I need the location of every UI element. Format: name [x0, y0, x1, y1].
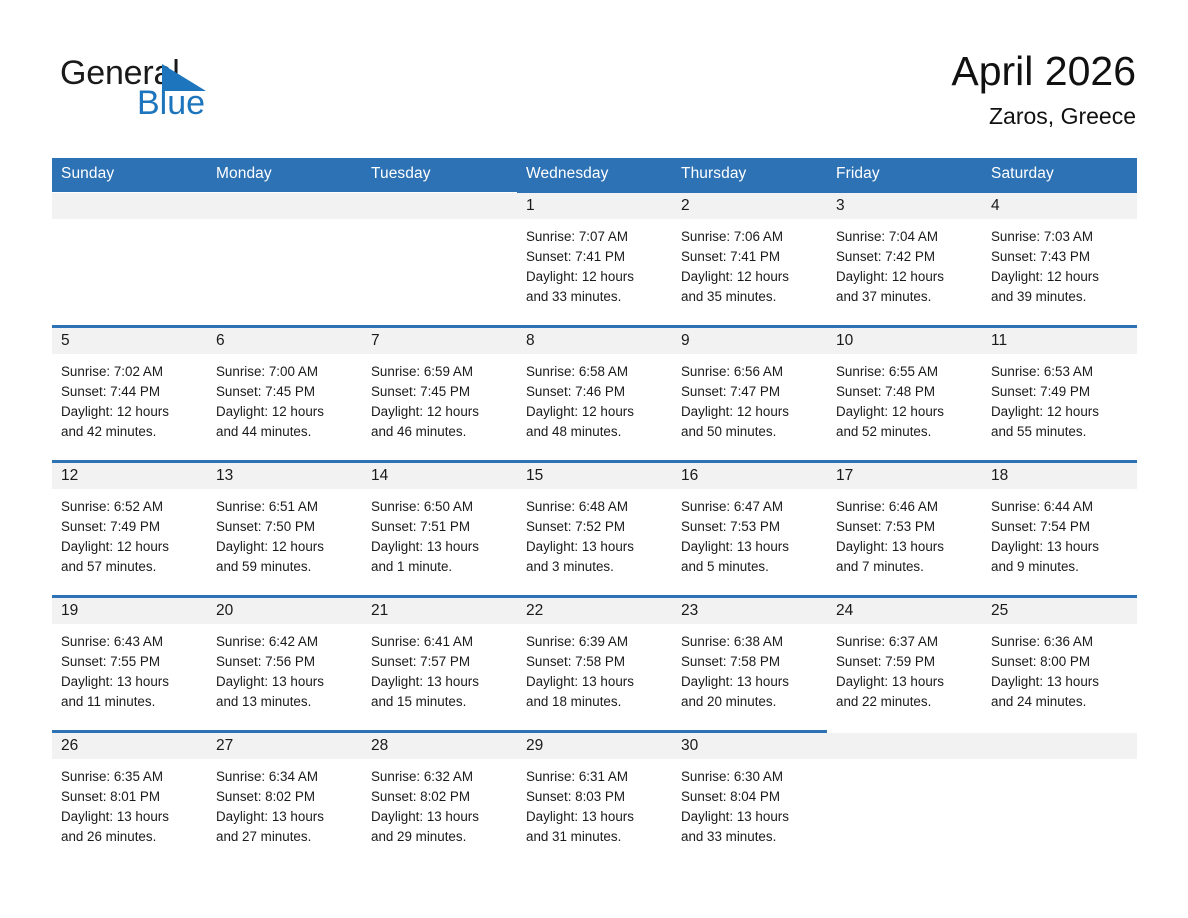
calendar-table: Sunday Monday Tuesday Wednesday Thursday…	[52, 158, 1137, 865]
calendar-day-cell[interactable]: 21Sunrise: 6:41 AMSunset: 7:57 PMDayligh…	[362, 597, 517, 732]
sunset-text: Sunset: 7:46 PM	[526, 382, 663, 402]
day-number-bar: 2	[672, 193, 827, 219]
sunset-text: Sunset: 8:03 PM	[526, 787, 663, 807]
daylight-text-line2: and 20 minutes.	[681, 692, 818, 712]
daylight-text-line1: Daylight: 13 hours	[371, 807, 508, 827]
daylight-text-line2: and 35 minutes.	[681, 287, 818, 307]
weekday-header-row: Sunday Monday Tuesday Wednesday Thursday…	[52, 158, 1137, 192]
daylight-text-line2: and 7 minutes.	[836, 557, 973, 577]
sunset-text: Sunset: 7:51 PM	[371, 517, 508, 537]
day-number-bar: 1	[517, 193, 672, 219]
daylight-text-line2: and 33 minutes.	[681, 827, 818, 847]
day-details: Sunrise: 6:43 AMSunset: 7:55 PMDaylight:…	[52, 624, 207, 712]
sunrise-text: Sunrise: 6:41 AM	[371, 632, 508, 652]
daylight-text-line1: Daylight: 13 hours	[216, 672, 353, 692]
day-number-bar: 8	[517, 328, 672, 354]
daylight-text-line2: and 42 minutes.	[61, 422, 198, 442]
sunrise-text: Sunrise: 6:32 AM	[371, 767, 508, 787]
day-details: Sunrise: 6:35 AMSunset: 8:01 PMDaylight:…	[52, 759, 207, 847]
sunrise-text: Sunrise: 6:39 AM	[526, 632, 663, 652]
daylight-text-line1: Daylight: 13 hours	[61, 672, 198, 692]
day-number-bar: 18	[982, 463, 1137, 489]
daylight-text-line1: Daylight: 13 hours	[681, 807, 818, 827]
calendar-week-row: 12Sunrise: 6:52 AMSunset: 7:49 PMDayligh…	[52, 462, 1137, 597]
day-number: 1	[526, 197, 535, 214]
sunset-text: Sunset: 7:57 PM	[371, 652, 508, 672]
daylight-text-line2: and 24 minutes.	[991, 692, 1128, 712]
day-details: Sunrise: 6:47 AMSunset: 7:53 PMDaylight:…	[672, 489, 827, 577]
sunset-text: Sunset: 7:43 PM	[991, 247, 1128, 267]
day-number: 11	[991, 332, 1007, 349]
sunrise-text: Sunrise: 6:42 AM	[216, 632, 353, 652]
day-number: 14	[371, 467, 388, 484]
calendar-day-cell-empty	[207, 192, 362, 327]
weekday-header-monday: Monday	[207, 158, 362, 192]
sunrise-text: Sunrise: 7:00 AM	[216, 362, 353, 382]
day-number: 2	[681, 197, 690, 214]
day-details: Sunrise: 6:38 AMSunset: 7:58 PMDaylight:…	[672, 624, 827, 712]
calendar-day-cell[interactable]: 9Sunrise: 6:56 AMSunset: 7:47 PMDaylight…	[672, 327, 827, 462]
title-block: April 2026 Zaros, Greece	[951, 44, 1136, 132]
sunset-text: Sunset: 7:54 PM	[991, 517, 1128, 537]
daylight-text-line1: Daylight: 13 hours	[216, 807, 353, 827]
sunrise-text: Sunrise: 6:37 AM	[836, 632, 973, 652]
sunrise-text: Sunrise: 7:02 AM	[61, 362, 198, 382]
calendar-day-cell[interactable]: 6Sunrise: 7:00 AMSunset: 7:45 PMDaylight…	[207, 327, 362, 462]
day-details: Sunrise: 6:39 AMSunset: 7:58 PMDaylight:…	[517, 624, 672, 712]
sunset-text: Sunset: 7:56 PM	[216, 652, 353, 672]
daylight-text-line1: Daylight: 13 hours	[991, 537, 1128, 557]
day-number-bar: 12	[52, 463, 207, 489]
calendar-day-cell[interactable]: 28Sunrise: 6:32 AMSunset: 8:02 PMDayligh…	[362, 732, 517, 866]
day-number-bar	[827, 733, 982, 759]
calendar-day-cell[interactable]: 19Sunrise: 6:43 AMSunset: 7:55 PMDayligh…	[52, 597, 207, 732]
day-number-bar: 26	[52, 733, 207, 759]
day-number-bar	[982, 733, 1137, 759]
daylight-text-line2: and 3 minutes.	[526, 557, 663, 577]
calendar-day-cell[interactable]: 29Sunrise: 6:31 AMSunset: 8:03 PMDayligh…	[517, 732, 672, 866]
day-details: Sunrise: 6:55 AMSunset: 7:48 PMDaylight:…	[827, 354, 982, 442]
day-number-bar: 10	[827, 328, 982, 354]
day-number: 13	[216, 467, 233, 484]
daylight-text-line2: and 15 minutes.	[371, 692, 508, 712]
sunset-text: Sunset: 7:58 PM	[526, 652, 663, 672]
day-details: Sunrise: 6:59 AMSunset: 7:45 PMDaylight:…	[362, 354, 517, 442]
sunset-text: Sunset: 8:02 PM	[371, 787, 508, 807]
daylight-text-line1: Daylight: 13 hours	[526, 807, 663, 827]
weekday-header-wednesday: Wednesday	[517, 158, 672, 192]
daylight-text-line1: Daylight: 13 hours	[991, 672, 1128, 692]
daylight-text-line1: Daylight: 12 hours	[836, 267, 973, 287]
daylight-text-line2: and 46 minutes.	[371, 422, 508, 442]
calendar-day-cell[interactable]: 22Sunrise: 6:39 AMSunset: 7:58 PMDayligh…	[517, 597, 672, 732]
sunset-text: Sunset: 8:01 PM	[61, 787, 198, 807]
calendar-day-cell[interactable]: 16Sunrise: 6:47 AMSunset: 7:53 PMDayligh…	[672, 462, 827, 597]
day-number: 4	[991, 197, 1000, 214]
calendar-day-cell[interactable]: 7Sunrise: 6:59 AMSunset: 7:45 PMDaylight…	[362, 327, 517, 462]
day-number-bar	[362, 193, 517, 219]
sunset-text: Sunset: 7:59 PM	[836, 652, 973, 672]
day-number: 23	[681, 602, 698, 619]
day-details: Sunrise: 6:53 AMSunset: 7:49 PMDaylight:…	[982, 354, 1137, 442]
day-details: Sunrise: 7:04 AMSunset: 7:42 PMDaylight:…	[827, 219, 982, 307]
daylight-text-line2: and 52 minutes.	[836, 422, 973, 442]
sunset-text: Sunset: 7:48 PM	[836, 382, 973, 402]
sunset-text: Sunset: 7:55 PM	[61, 652, 198, 672]
sunrise-text: Sunrise: 7:07 AM	[526, 227, 663, 247]
daylight-text-line2: and 31 minutes.	[526, 827, 663, 847]
day-number-bar: 15	[517, 463, 672, 489]
sunset-text: Sunset: 7:42 PM	[836, 247, 973, 267]
day-number-bar: 7	[362, 328, 517, 354]
calendar-day-cell[interactable]: 30Sunrise: 6:30 AMSunset: 8:04 PMDayligh…	[672, 732, 827, 866]
day-number-bar: 29	[517, 733, 672, 759]
calendar-day-cell[interactable]: 18Sunrise: 6:44 AMSunset: 7:54 PMDayligh…	[982, 462, 1137, 597]
day-number: 26	[61, 737, 78, 754]
calendar-day-cell-empty	[982, 732, 1137, 866]
calendar-day-cell[interactable]: 3Sunrise: 7:04 AMSunset: 7:42 PMDaylight…	[827, 192, 982, 327]
day-number-bar: 13	[207, 463, 362, 489]
sunset-text: Sunset: 7:45 PM	[216, 382, 353, 402]
day-number-bar: 24	[827, 598, 982, 624]
day-details: Sunrise: 6:30 AMSunset: 8:04 PMDaylight:…	[672, 759, 827, 847]
sunrise-text: Sunrise: 6:34 AM	[216, 767, 353, 787]
day-number-bar: 9	[672, 328, 827, 354]
day-details: Sunrise: 6:48 AMSunset: 7:52 PMDaylight:…	[517, 489, 672, 577]
logo-text-blue: Blue	[137, 84, 205, 122]
calendar-day-cell[interactable]: 23Sunrise: 6:38 AMSunset: 7:58 PMDayligh…	[672, 597, 827, 732]
sunrise-text: Sunrise: 6:46 AM	[836, 497, 973, 517]
daylight-text-line2: and 26 minutes.	[61, 827, 198, 847]
daylight-text-line1: Daylight: 12 hours	[61, 402, 198, 422]
day-number: 28	[371, 737, 388, 754]
sunset-text: Sunset: 7:50 PM	[216, 517, 353, 537]
day-details: Sunrise: 7:06 AMSunset: 7:41 PMDaylight:…	[672, 219, 827, 307]
calendar-day-cell[interactable]: 5Sunrise: 7:02 AMSunset: 7:44 PMDaylight…	[52, 327, 207, 462]
day-details: Sunrise: 6:34 AMSunset: 8:02 PMDaylight:…	[207, 759, 362, 847]
day-number-bar: 3	[827, 193, 982, 219]
sunset-text: Sunset: 7:41 PM	[681, 247, 818, 267]
day-details: Sunrise: 7:02 AMSunset: 7:44 PMDaylight:…	[52, 354, 207, 442]
page-header: General Blue April 2026 Zaros, Greece	[52, 44, 1136, 148]
daylight-text-line1: Daylight: 13 hours	[681, 672, 818, 692]
day-number: 12	[61, 467, 78, 484]
calendar-day-cell[interactable]: 12Sunrise: 6:52 AMSunset: 7:49 PMDayligh…	[52, 462, 207, 597]
day-number-bar: 21	[362, 598, 517, 624]
sunrise-text: Sunrise: 6:56 AM	[681, 362, 818, 382]
daylight-text-line2: and 33 minutes.	[526, 287, 663, 307]
sunrise-text: Sunrise: 6:30 AM	[681, 767, 818, 787]
day-number: 10	[836, 332, 853, 349]
daylight-text-line2: and 48 minutes.	[526, 422, 663, 442]
daylight-text-line1: Daylight: 12 hours	[836, 402, 973, 422]
daylight-text-line2: and 50 minutes.	[681, 422, 818, 442]
sunrise-text: Sunrise: 6:47 AM	[681, 497, 818, 517]
day-details: Sunrise: 7:07 AMSunset: 7:41 PMDaylight:…	[517, 219, 672, 307]
daylight-text-line2: and 55 minutes.	[991, 422, 1128, 442]
daylight-text-line1: Daylight: 13 hours	[836, 672, 973, 692]
calendar-week-row: 1Sunrise: 7:07 AMSunset: 7:41 PMDaylight…	[52, 192, 1137, 327]
day-number: 29	[526, 737, 543, 754]
day-number-bar: 19	[52, 598, 207, 624]
sunrise-text: Sunrise: 6:52 AM	[61, 497, 198, 517]
day-number: 21	[371, 602, 388, 619]
day-details: Sunrise: 6:50 AMSunset: 7:51 PMDaylight:…	[362, 489, 517, 577]
day-details: Sunrise: 7:03 AMSunset: 7:43 PMDaylight:…	[982, 219, 1137, 307]
day-number: 3	[836, 197, 845, 214]
daylight-text-line1: Daylight: 13 hours	[681, 537, 818, 557]
day-number-bar: 17	[827, 463, 982, 489]
sunrise-text: Sunrise: 6:53 AM	[991, 362, 1128, 382]
day-number: 30	[681, 737, 698, 754]
day-details: Sunrise: 6:32 AMSunset: 8:02 PMDaylight:…	[362, 759, 517, 847]
daylight-text-line1: Daylight: 12 hours	[371, 402, 508, 422]
day-number-bar	[207, 193, 362, 219]
daylight-text-line1: Daylight: 13 hours	[61, 807, 198, 827]
day-number: 18	[991, 467, 1008, 484]
page-title: April 2026	[951, 44, 1136, 98]
day-number-bar: 20	[207, 598, 362, 624]
sunrise-text: Sunrise: 6:51 AM	[216, 497, 353, 517]
sunset-text: Sunset: 7:47 PM	[681, 382, 818, 402]
daylight-text-line2: and 59 minutes.	[216, 557, 353, 577]
calendar-day-cell[interactable]: 25Sunrise: 6:36 AMSunset: 8:00 PMDayligh…	[982, 597, 1137, 732]
weekday-header-tuesday: Tuesday	[362, 158, 517, 192]
calendar-day-cell[interactable]: 10Sunrise: 6:55 AMSunset: 7:48 PMDayligh…	[827, 327, 982, 462]
day-details: Sunrise: 6:31 AMSunset: 8:03 PMDaylight:…	[517, 759, 672, 847]
calendar-week-row: 5Sunrise: 7:02 AMSunset: 7:44 PMDaylight…	[52, 327, 1137, 462]
day-details: Sunrise: 6:42 AMSunset: 7:56 PMDaylight:…	[207, 624, 362, 712]
calendar-week-row: 19Sunrise: 6:43 AMSunset: 7:55 PMDayligh…	[52, 597, 1137, 732]
calendar-day-cell[interactable]: 2Sunrise: 7:06 AMSunset: 7:41 PMDaylight…	[672, 192, 827, 327]
sunrise-text: Sunrise: 6:31 AM	[526, 767, 663, 787]
sunrise-text: Sunrise: 6:36 AM	[991, 632, 1128, 652]
day-number: 27	[216, 737, 233, 754]
day-number-bar: 4	[982, 193, 1137, 219]
daylight-text-line2: and 13 minutes.	[216, 692, 353, 712]
calendar-day-cell[interactable]: 26Sunrise: 6:35 AMSunset: 8:01 PMDayligh…	[52, 732, 207, 866]
weekday-header-thursday: Thursday	[672, 158, 827, 192]
day-number-bar: 27	[207, 733, 362, 759]
sunset-text: Sunset: 7:44 PM	[61, 382, 198, 402]
daylight-text-line1: Daylight: 12 hours	[991, 267, 1128, 287]
sunrise-text: Sunrise: 6:59 AM	[371, 362, 508, 382]
day-number-bar: 5	[52, 328, 207, 354]
daylight-text-line2: and 57 minutes.	[61, 557, 198, 577]
day-details: Sunrise: 6:51 AMSunset: 7:50 PMDaylight:…	[207, 489, 362, 577]
day-details: Sunrise: 6:58 AMSunset: 7:46 PMDaylight:…	[517, 354, 672, 442]
weekday-header-saturday: Saturday	[982, 158, 1137, 192]
day-details: Sunrise: 6:46 AMSunset: 7:53 PMDaylight:…	[827, 489, 982, 577]
daylight-text-line2: and 1 minute.	[371, 557, 508, 577]
daylight-text-line1: Daylight: 12 hours	[216, 537, 353, 557]
calendar-day-cell-empty	[827, 732, 982, 866]
daylight-text-line2: and 39 minutes.	[991, 287, 1128, 307]
sunrise-text: Sunrise: 6:50 AM	[371, 497, 508, 517]
sunset-text: Sunset: 7:52 PM	[526, 517, 663, 537]
daylight-text-line1: Daylight: 12 hours	[681, 267, 818, 287]
sunset-text: Sunset: 7:45 PM	[371, 382, 508, 402]
day-details: Sunrise: 6:56 AMSunset: 7:47 PMDaylight:…	[672, 354, 827, 442]
sunset-text: Sunset: 7:41 PM	[526, 247, 663, 267]
day-number-bar: 23	[672, 598, 827, 624]
daylight-text-line1: Daylight: 13 hours	[371, 537, 508, 557]
calendar-day-cell[interactable]: 1Sunrise: 7:07 AMSunset: 7:41 PMDaylight…	[517, 192, 672, 327]
calendar-day-cell-empty	[362, 192, 517, 327]
day-number-bar: 11	[982, 328, 1137, 354]
day-number: 16	[681, 467, 698, 484]
calendar-week-row: 26Sunrise: 6:35 AMSunset: 8:01 PMDayligh…	[52, 732, 1137, 866]
calendar-day-cell[interactable]: 17Sunrise: 6:46 AMSunset: 7:53 PMDayligh…	[827, 462, 982, 597]
sunrise-text: Sunrise: 6:38 AM	[681, 632, 818, 652]
daylight-text-line1: Daylight: 13 hours	[371, 672, 508, 692]
day-number-bar: 28	[362, 733, 517, 759]
day-number: 6	[216, 332, 225, 349]
day-number: 19	[61, 602, 78, 619]
day-number: 8	[526, 332, 535, 349]
day-number: 24	[836, 602, 853, 619]
day-details: Sunrise: 6:44 AMSunset: 7:54 PMDaylight:…	[982, 489, 1137, 577]
sunrise-text: Sunrise: 6:35 AM	[61, 767, 198, 787]
calendar-day-cell[interactable]: 8Sunrise: 6:58 AMSunset: 7:46 PMDaylight…	[517, 327, 672, 462]
calendar-day-cell[interactable]: 24Sunrise: 6:37 AMSunset: 7:59 PMDayligh…	[827, 597, 982, 732]
sunrise-text: Sunrise: 7:04 AM	[836, 227, 973, 247]
page-subtitle: Zaros, Greece	[951, 100, 1136, 132]
calendar-day-cell-empty	[52, 192, 207, 327]
calendar-body: 1Sunrise: 7:07 AMSunset: 7:41 PMDaylight…	[52, 192, 1137, 866]
daylight-text-line2: and 5 minutes.	[681, 557, 818, 577]
sunset-text: Sunset: 8:02 PM	[216, 787, 353, 807]
sunset-text: Sunset: 7:53 PM	[836, 517, 973, 537]
calendar-page: General Blue April 2026 Zaros, Greece Su…	[0, 0, 1188, 918]
daylight-text-line1: Daylight: 12 hours	[681, 402, 818, 422]
sunrise-text: Sunrise: 6:58 AM	[526, 362, 663, 382]
daylight-text-line1: Daylight: 12 hours	[526, 402, 663, 422]
daylight-text-line2: and 44 minutes.	[216, 422, 353, 442]
day-number: 25	[991, 602, 1008, 619]
day-number-bar: 16	[672, 463, 827, 489]
calendar-day-cell[interactable]: 13Sunrise: 6:51 AMSunset: 7:50 PMDayligh…	[207, 462, 362, 597]
sunrise-text: Sunrise: 6:43 AM	[61, 632, 198, 652]
sunrise-text: Sunrise: 6:48 AM	[526, 497, 663, 517]
day-number-bar: 22	[517, 598, 672, 624]
sunrise-text: Sunrise: 6:55 AM	[836, 362, 973, 382]
day-number: 15	[526, 467, 543, 484]
sunset-text: Sunset: 7:49 PM	[991, 382, 1128, 402]
sunrise-text: Sunrise: 6:44 AM	[991, 497, 1128, 517]
general-blue-logo: General Blue	[60, 54, 320, 134]
weekday-header-friday: Friday	[827, 158, 982, 192]
day-number-bar: 25	[982, 598, 1137, 624]
day-number: 17	[836, 467, 853, 484]
calendar-day-cell[interactable]: 15Sunrise: 6:48 AMSunset: 7:52 PMDayligh…	[517, 462, 672, 597]
day-details: Sunrise: 6:52 AMSunset: 7:49 PMDaylight:…	[52, 489, 207, 577]
day-details: Sunrise: 7:00 AMSunset: 7:45 PMDaylight:…	[207, 354, 362, 442]
daylight-text-line2: and 29 minutes.	[371, 827, 508, 847]
daylight-text-line2: and 18 minutes.	[526, 692, 663, 712]
daylight-text-line2: and 27 minutes.	[216, 827, 353, 847]
day-number: 20	[216, 602, 233, 619]
day-number-bar: 14	[362, 463, 517, 489]
day-number: 9	[681, 332, 690, 349]
calendar-day-cell[interactable]: 4Sunrise: 7:03 AMSunset: 7:43 PMDaylight…	[982, 192, 1137, 327]
daylight-text-line1: Daylight: 12 hours	[526, 267, 663, 287]
sunset-text: Sunset: 8:00 PM	[991, 652, 1128, 672]
daylight-text-line1: Daylight: 13 hours	[526, 537, 663, 557]
calendar-day-cell[interactable]: 11Sunrise: 6:53 AMSunset: 7:49 PMDayligh…	[982, 327, 1137, 462]
daylight-text-line1: Daylight: 12 hours	[991, 402, 1128, 422]
daylight-text-line1: Daylight: 13 hours	[836, 537, 973, 557]
daylight-text-line2: and 11 minutes.	[61, 692, 198, 712]
day-number-bar: 6	[207, 328, 362, 354]
sunrise-text: Sunrise: 7:03 AM	[991, 227, 1128, 247]
day-number: 22	[526, 602, 543, 619]
daylight-text-line2: and 37 minutes.	[836, 287, 973, 307]
day-details: Sunrise: 6:36 AMSunset: 8:00 PMDaylight:…	[982, 624, 1137, 712]
sunrise-text: Sunrise: 7:06 AM	[681, 227, 818, 247]
day-number: 5	[61, 332, 70, 349]
sunset-text: Sunset: 7:49 PM	[61, 517, 198, 537]
calendar-day-cell[interactable]: 20Sunrise: 6:42 AMSunset: 7:56 PMDayligh…	[207, 597, 362, 732]
calendar-day-cell[interactable]: 27Sunrise: 6:34 AMSunset: 8:02 PMDayligh…	[207, 732, 362, 866]
weekday-header-sunday: Sunday	[52, 158, 207, 192]
sunset-text: Sunset: 7:53 PM	[681, 517, 818, 537]
daylight-text-line2: and 9 minutes.	[991, 557, 1128, 577]
day-number-bar	[52, 193, 207, 219]
sunset-text: Sunset: 7:58 PM	[681, 652, 818, 672]
calendar-day-cell[interactable]: 14Sunrise: 6:50 AMSunset: 7:51 PMDayligh…	[362, 462, 517, 597]
day-details: Sunrise: 6:41 AMSunset: 7:57 PMDaylight:…	[362, 624, 517, 712]
daylight-text-line1: Daylight: 12 hours	[216, 402, 353, 422]
day-number: 7	[371, 332, 380, 349]
daylight-text-line1: Daylight: 13 hours	[526, 672, 663, 692]
daylight-text-line2: and 22 minutes.	[836, 692, 973, 712]
day-details: Sunrise: 6:37 AMSunset: 7:59 PMDaylight:…	[827, 624, 982, 712]
sunset-text: Sunset: 8:04 PM	[681, 787, 818, 807]
daylight-text-line1: Daylight: 12 hours	[61, 537, 198, 557]
day-number-bar: 30	[672, 733, 827, 759]
